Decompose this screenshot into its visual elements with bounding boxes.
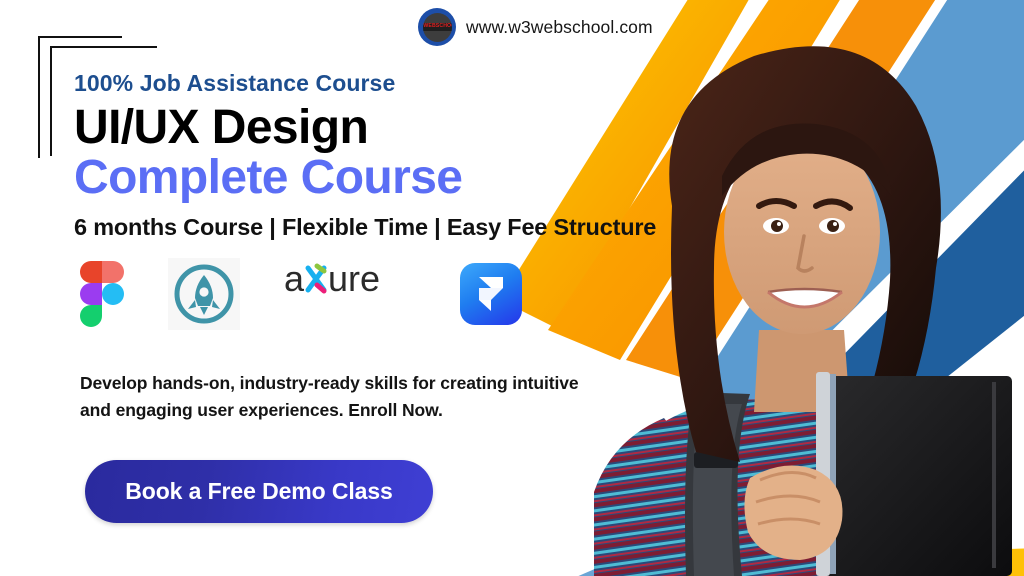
promo-banner: W3WEBSCHOOL www.w3webschool.com 100% Job… <box>0 0 1024 576</box>
tool-logo-row: a ure <box>80 258 522 330</box>
w3webschool-logo-icon: W3WEBSCHOOL <box>418 8 456 46</box>
course-features-line: 6 months Course | Flexible Time | Easy F… <box>74 214 674 241</box>
svg-text:ure: ure <box>328 258 380 299</box>
headline-block: 100% Job Assistance Course UI/UX Design … <box>74 70 674 241</box>
brand-bar: W3WEBSCHOOL www.w3webschool.com <box>418 8 653 46</box>
framer-logo-icon <box>460 258 522 330</box>
invision-rocket-logo-icon <box>168 258 240 330</box>
eyebrow-text: 100% Job Assistance Course <box>74 70 674 96</box>
figma-logo-icon <box>80 258 124 330</box>
book-demo-class-button[interactable]: Book a Free Demo Class <box>85 460 433 523</box>
axure-logo-icon: a ure <box>284 258 416 330</box>
brand-url: www.w3webschool.com <box>466 17 653 38</box>
svg-text:a: a <box>284 258 305 299</box>
page-title-line1: UI/UX Design <box>74 102 674 154</box>
logo-school: SCHOOL <box>436 23 452 29</box>
page-title-line2: Complete Course <box>74 152 674 204</box>
logo-web: WEB <box>423 23 435 29</box>
description-text: Develop hands-on, industry-ready skills … <box>80 370 580 423</box>
